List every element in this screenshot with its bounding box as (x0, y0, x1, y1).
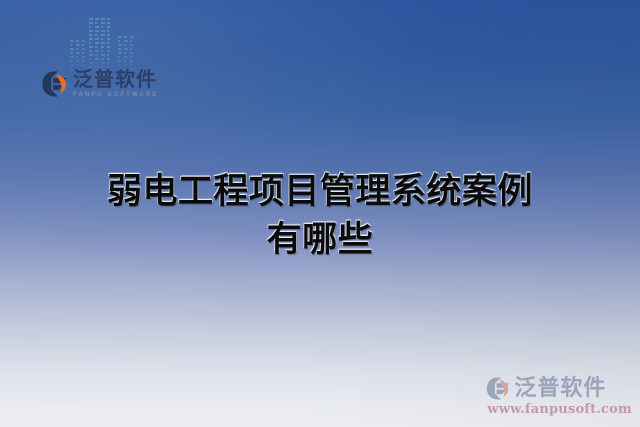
watermark-name-cn: 泛普软件 (514, 377, 606, 400)
page-title: 弱电工程项目管理系统案例 有哪些 (0, 168, 640, 264)
fanpu-logo-mark-icon (41, 70, 69, 98)
watermark-logo-row: 泛普软件 (485, 376, 606, 401)
watermark-url: www.fanpusoft.com (487, 402, 632, 417)
watermark: 泛普软件 www.fanpusoft.com (485, 376, 632, 417)
page-title-line-2: 有哪些 (0, 216, 640, 264)
slide-canvas: 泛普软件 FANPU SOFTWARE 弱电工程项目管理系统案例 有哪些 泛普软… (0, 0, 640, 427)
brand-wordmark-top: 泛普软件 FANPU SOFTWARE (73, 69, 158, 99)
page-title-line-1: 弱电工程项目管理系统案例 (0, 168, 640, 216)
brand-logo-top: 泛普软件 FANPU SOFTWARE (41, 69, 158, 99)
fanpu-watermark-mark-icon (485, 376, 512, 401)
brand-name-cn: 泛普软件 (73, 69, 158, 90)
brand-name-en: FANPU SOFTWARE (73, 91, 158, 99)
